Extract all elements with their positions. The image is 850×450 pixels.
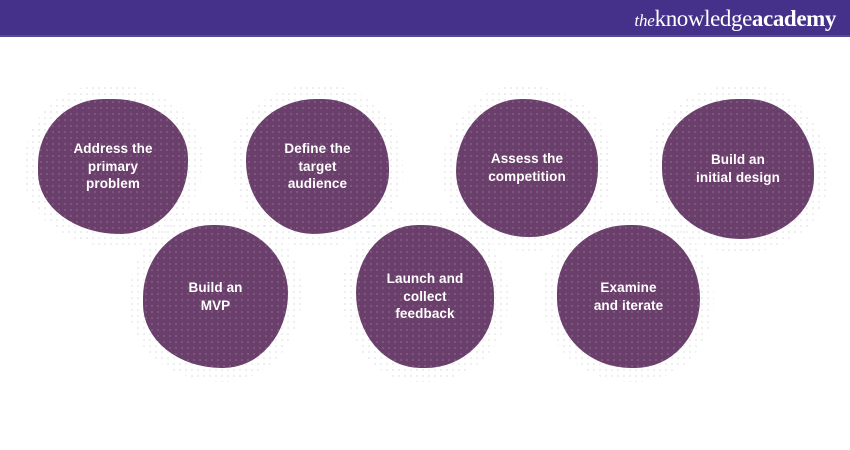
- logo-word-knowledge: knowledge: [655, 7, 752, 30]
- process-step-6-label: Launch and collect feedback: [379, 270, 472, 323]
- process-step-2-label: Define the target audience: [276, 140, 358, 193]
- page-header: theknowledgeacademy: [0, 0, 850, 37]
- process-step-5-label: Build an MVP: [180, 279, 250, 315]
- process-step-3[interactable]: Assess the competition: [456, 99, 598, 237]
- process-step-4[interactable]: Build an initial design: [662, 99, 814, 239]
- process-step-6[interactable]: Launch and collect feedback: [356, 225, 494, 368]
- process-step-1[interactable]: Address the primary problem: [38, 99, 188, 234]
- brand-logo[interactable]: theknowledgeacademy: [634, 7, 836, 30]
- process-step-3-label: Assess the competition: [480, 150, 574, 186]
- process-step-4-label: Build an initial design: [688, 151, 788, 187]
- process-step-7-label: Examine and iterate: [586, 279, 671, 315]
- process-step-1-label: Address the primary problem: [65, 140, 160, 193]
- logo-word-the: the: [634, 12, 654, 29]
- process-step-2[interactable]: Define the target audience: [246, 99, 389, 234]
- logo-word-academy: academy: [752, 7, 836, 30]
- process-step-5[interactable]: Build an MVP: [143, 225, 288, 368]
- diagram-canvas: Address the primary problem Define the t…: [0, 37, 850, 450]
- process-step-7[interactable]: Examine and iterate: [557, 225, 700, 368]
